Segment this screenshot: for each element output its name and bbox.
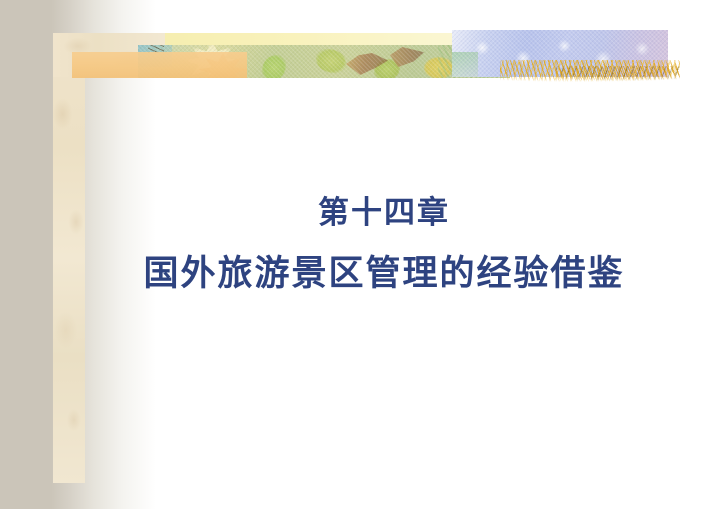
green-leaf-icon [262,55,286,78]
orange-accent-band [72,52,247,78]
green-leaf-icon [316,49,346,73]
green-leaf-icon [374,59,400,78]
green-foliage-edge [452,52,478,77]
yellow-leaf-icon [424,57,454,78]
title-block: 第十四章 国外旅游景区管理的经验借鉴 [96,196,672,294]
brown-leaf-icon [390,47,424,67]
parchment-vertical-strip [53,33,85,483]
page-title: 国外旅游景区管理的经验借鉴 [96,254,672,294]
golden-wheat-strands-secondary [556,66,680,82]
title-slide: 第十四章 国外旅游景区管理的经验借鉴 [0,0,720,509]
chapter-label: 第十四章 [96,196,672,232]
brown-leaf-icon [346,53,388,75]
